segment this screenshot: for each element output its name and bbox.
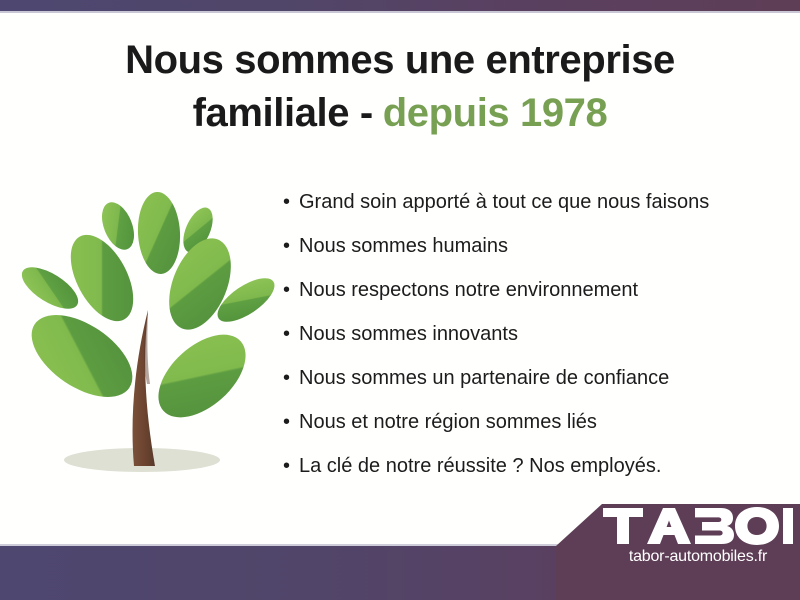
tree-trunk-shape — [133, 310, 155, 466]
list-item-label: Grand soin apporté à tout ce que nous fa… — [299, 190, 709, 214]
tabor-wordmark-icon — [603, 506, 793, 546]
bullet-icon: • — [283, 190, 299, 214]
bullet-icon: • — [283, 410, 299, 434]
bullet-icon: • — [283, 322, 299, 346]
list-item: • Nous sommes humains — [283, 234, 783, 278]
list-item: • La clé de notre réussite ? Nos employé… — [283, 454, 783, 498]
list-item-label: Nous sommes humains — [299, 234, 508, 258]
leaf-shape — [143, 319, 260, 433]
headline-line-2-plain: familiale - — [193, 91, 373, 135]
logo-url-label: tabor-automobiles.fr — [629, 548, 767, 566]
list-item-label: Nous sommes innovants — [299, 322, 518, 346]
bullet-list: • Grand soin apporté à tout ce que nous … — [283, 190, 783, 498]
tree-svg — [14, 188, 276, 488]
list-item: • Nous sommes un partenaire de confiance — [283, 366, 783, 410]
list-item-label: Nous respectons notre environnement — [299, 278, 638, 302]
list-item-label: Nous et notre région sommes liés — [299, 410, 597, 434]
slide-canvas: Nous sommes une entreprise familiale -de… — [0, 0, 800, 600]
headline-line-2: familiale -depuis 1978 — [0, 87, 800, 140]
brand-logo: tabor-automobiles.fr — [596, 506, 800, 584]
bullet-icon: • — [283, 454, 299, 478]
tree-illustration — [14, 188, 276, 488]
list-item-label: Nous sommes un partenaire de confiance — [299, 366, 669, 390]
list-item-label: La clé de notre réussite ? Nos employés. — [299, 454, 661, 478]
top-accent-underline — [0, 11, 800, 13]
top-accent-bar — [0, 0, 800, 11]
page-title: Nous sommes une entreprise familiale -de… — [0, 34, 800, 140]
list-item: • Grand soin apporté à tout ce que nous … — [283, 190, 783, 234]
list-item: • Nous sommes innovants — [283, 322, 783, 366]
headline-accent: depuis 1978 — [383, 91, 608, 135]
bullet-icon: • — [283, 278, 299, 302]
headline-line-1: Nous sommes une entreprise — [0, 34, 800, 87]
bullet-icon: • — [283, 234, 299, 258]
bullet-icon: • — [283, 366, 299, 390]
list-item: • Nous et notre région sommes liés — [283, 410, 783, 454]
list-item: • Nous respectons notre environnement — [283, 278, 783, 322]
leaf-shape — [136, 191, 182, 275]
